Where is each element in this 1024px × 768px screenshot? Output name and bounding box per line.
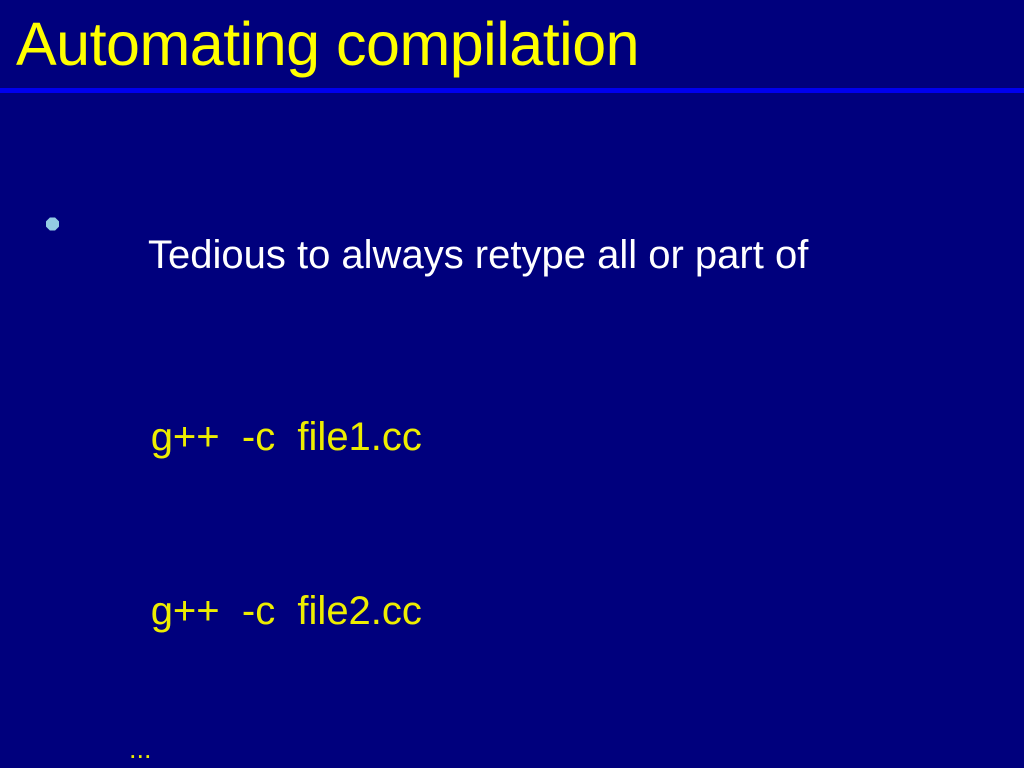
code-line: g++ -c file1.cc — [84, 350, 1024, 524]
code-ellipsis-line: ... — [84, 698, 1024, 768]
code-line-text: g++ -c file2.cc — [151, 589, 422, 633]
bullet-item-label: Tedious to always retype all or part of — [148, 233, 808, 277]
bullet-list-item: Tedious to always retype all or part of — [82, 98, 1024, 350]
presentation-slide: Automating compilation Tedious to always… — [0, 0, 1024, 768]
slide-body: Tedious to always retype all or part of … — [0, 98, 1024, 768]
page-title: Automating compilation — [16, 2, 639, 86]
slide-title-area: Automating compilation — [0, 0, 1024, 88]
code-line-text: ... — [129, 734, 152, 764]
code-line: g++ -c file2.cc — [84, 524, 1024, 698]
code-line-text: g++ -c file1.cc — [151, 415, 422, 459]
title-divider-rule — [0, 88, 1024, 93]
bullet-dot-icon — [46, 218, 59, 231]
